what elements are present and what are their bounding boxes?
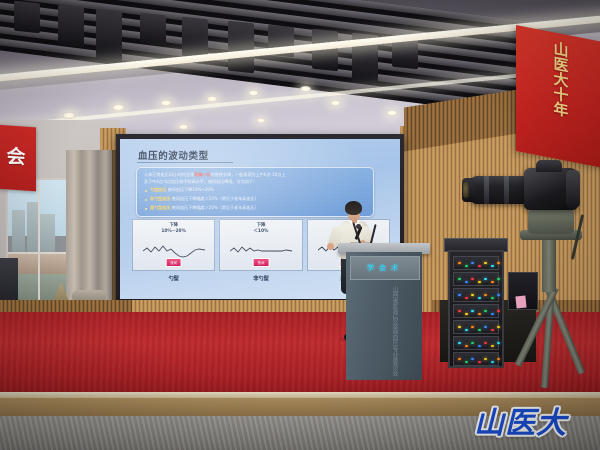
bp-chart-2-trace bbox=[230, 238, 292, 260]
rack-led-indicator bbox=[478, 265, 481, 267]
callout-bullet-3: 超勺型血压 夜间血压下降幅度＞20%（常见于老年高血压） bbox=[150, 206, 259, 210]
bp-chart-2-caption: 下降 ＜10% bbox=[220, 223, 301, 234]
bp-chart-1-axis-right bbox=[204, 222, 212, 263]
conference-hall-photo: 会 山医大十年 血压的波动类型 人体正常血压24小时内呈现双峰一谷的昼夜节律，一… bbox=[0, 0, 600, 450]
distant-building-1 bbox=[12, 210, 25, 258]
podium-front-panel: 学会术 bbox=[350, 256, 420, 280]
ceiling-downlight bbox=[386, 110, 398, 116]
rack-led-indicator bbox=[497, 262, 500, 264]
lens-focus-ring bbox=[484, 176, 489, 204]
rack-led-indicator bbox=[491, 329, 494, 331]
slide-title: 血压的波动类型 bbox=[138, 148, 209, 162]
bp-chart-1-badge: 夜间 bbox=[165, 258, 182, 267]
banner-left: 会 bbox=[0, 125, 36, 192]
rack-unit[interactable] bbox=[453, 288, 499, 302]
ceiling-downlight bbox=[62, 112, 76, 119]
callout-bullet-1-term: 勺型血压 bbox=[150, 187, 166, 192]
rack-unit[interactable] bbox=[453, 272, 499, 286]
rack-led-indicator bbox=[484, 326, 487, 328]
ceiling-downlight bbox=[178, 124, 189, 130]
callout-bullet-2-term: 非勺型血压 bbox=[150, 196, 170, 201]
callout-bullet-2: 非勺型血压 夜间血压下降幅度＜10%（常见于老年高血压） bbox=[150, 197, 259, 201]
callout-bullet-dot-2 bbox=[145, 199, 147, 201]
rack-led-indicator bbox=[478, 345, 481, 347]
callout-bullet-3-term: 超勺型血压 bbox=[150, 205, 170, 210]
lens-front-element bbox=[463, 182, 469, 198]
rack-led-indicator bbox=[465, 345, 468, 347]
rack-led-indicator bbox=[484, 278, 487, 280]
ceiling-downlight bbox=[206, 96, 218, 102]
ceiling-downlight bbox=[248, 90, 259, 96]
rack-led-indicator bbox=[478, 329, 481, 331]
rack-led-indicator bbox=[471, 310, 474, 312]
rack-led-indicator bbox=[471, 294, 474, 296]
camera-telephoto-lens bbox=[470, 176, 530, 204]
banner-right-text: 山医大十年 bbox=[552, 40, 569, 118]
slide-title-underline bbox=[137, 162, 233, 163]
rack-led-indicator bbox=[471, 342, 474, 344]
rack-led-indicator bbox=[465, 361, 468, 363]
callout-bullet-dot-1 bbox=[145, 190, 147, 192]
bp-chart-1-label: 勺型 bbox=[132, 275, 215, 282]
rack-led-indicator bbox=[491, 361, 494, 363]
rack-led-indicator bbox=[491, 345, 494, 347]
rack-led-indicator bbox=[458, 326, 461, 328]
slide-callout-box: 人体正常血压24小时内呈现双峰一谷的昼夜节律，一般表现为上午6点-10点上 及下… bbox=[136, 167, 374, 217]
callout-bullet-1-text: 夜间血压下降10%~20% bbox=[168, 187, 214, 192]
callout-p1c: 的昼夜节律，一般表现为上午6点-10点上 bbox=[211, 172, 286, 177]
rack-led-indicator bbox=[478, 361, 481, 363]
rack-led-indicator bbox=[491, 281, 494, 283]
tripod-fluid-head bbox=[528, 208, 574, 234]
rack-led-indicator bbox=[471, 262, 474, 264]
rack-led-indicator bbox=[458, 294, 461, 296]
watermark-logo: 山医大 bbox=[474, 398, 567, 442]
rack-unit[interactable] bbox=[453, 304, 499, 318]
rack-led-indicator bbox=[491, 297, 494, 299]
callout-paragraph-line2: 及下午4点-6点血压较子较高水平，夜间血压降低，分为如下： bbox=[144, 180, 257, 184]
banner-left-text: 会 bbox=[0, 147, 36, 169]
bp-chart-2: 下降 ＜10% 夜间 bbox=[219, 219, 302, 271]
callout-bullet-2-text: 夜间血压下降幅度＜10%（常见于老年高血压） bbox=[172, 196, 259, 201]
rack-led-indicator bbox=[458, 342, 461, 344]
camera-battery-grip bbox=[566, 170, 580, 208]
ceiling-downlight bbox=[112, 104, 125, 111]
window-mullion-vertical bbox=[38, 180, 40, 301]
ceiling-downlight bbox=[330, 100, 341, 106]
rack-unit[interactable] bbox=[453, 352, 499, 366]
bp-chart-1-trace bbox=[143, 238, 205, 260]
bp-chart-1-caption-l2: 10%~20% bbox=[161, 229, 186, 234]
callout-paragraph-line1: 人体正常血压24小时内呈现双峰一谷的昼夜节律，一般表现为上午6点-10点上 bbox=[144, 173, 285, 177]
callout-bullet-1: 勺型血压 夜间血压下降10%~20% bbox=[150, 188, 214, 192]
rack-led-indicator bbox=[471, 326, 474, 328]
speaker-hair bbox=[345, 201, 362, 215]
podium-side-text: 山西省医师协会高血压专业委员会 bbox=[382, 286, 398, 378]
banner-right: 山医大十年 bbox=[516, 25, 600, 169]
bp-chart-2-axis-right bbox=[292, 222, 300, 263]
bp-chart-2-caption-l2: ＜10% bbox=[254, 229, 269, 234]
rack-led-indicator bbox=[465, 313, 468, 315]
rack-led-indicator bbox=[478, 297, 481, 299]
rack-unit[interactable] bbox=[453, 320, 499, 334]
distant-building-2 bbox=[27, 202, 38, 258]
bp-chart-2-caption-l1: 下降 bbox=[257, 223, 266, 228]
bp-chart-1-caption: 下降 10%~20% bbox=[133, 223, 214, 234]
rack-led-indicator bbox=[491, 265, 494, 267]
lens-zoom-ring bbox=[504, 176, 509, 204]
rack-unit[interactable] bbox=[453, 256, 499, 270]
callout-bullet-3-text: 夜间血压下降幅度＞20%（常见于老年高血压） bbox=[172, 205, 259, 210]
callout-p1b: 双峰一谷 bbox=[194, 172, 210, 177]
bp-chart-1: 下降 10%~20% 夜间 bbox=[132, 219, 215, 271]
rack-led-indicator bbox=[497, 278, 500, 280]
rack-led-indicator bbox=[458, 262, 461, 264]
callout-bullet-dot-3 bbox=[145, 208, 147, 210]
rack-led-indicator bbox=[478, 281, 481, 283]
bp-chart-2-badge: 夜间 bbox=[253, 258, 270, 267]
rack-led-indicator bbox=[484, 294, 487, 296]
bp-chart-3-axis-left bbox=[310, 222, 318, 263]
rack-led-indicator bbox=[484, 310, 487, 312]
callout-p1a: 人体正常血压24小时内呈现 bbox=[144, 172, 194, 177]
rack-led-indicator bbox=[478, 313, 481, 315]
rack-led-indicator bbox=[458, 358, 461, 360]
rack-led-indicator bbox=[465, 329, 468, 331]
rack-led-indicator bbox=[458, 310, 461, 312]
ceiling-downlight bbox=[256, 118, 266, 123]
av-equipment-rack bbox=[448, 250, 504, 368]
rack-unit[interactable] bbox=[453, 336, 499, 350]
rack-led-indicator bbox=[465, 297, 468, 299]
rack-led-indicator bbox=[465, 265, 468, 267]
rack-led-indicator bbox=[471, 278, 474, 280]
rack-led-indicator bbox=[471, 358, 474, 360]
ceiling-downlight bbox=[300, 86, 311, 92]
podium-front-text: 学会术 bbox=[351, 263, 419, 273]
bp-chart-1-axis-left bbox=[135, 222, 143, 263]
speaker-hand-left bbox=[327, 243, 334, 250]
rack-led-indicator bbox=[484, 262, 487, 264]
window-mullion-horizontal bbox=[8, 252, 70, 254]
bp-chart-2-label: 非勺型 bbox=[219, 275, 302, 282]
tripod-center-column bbox=[542, 238, 556, 292]
microphone-head-icon bbox=[356, 224, 361, 229]
bp-chart-1-caption-l1: 下降 bbox=[169, 223, 178, 228]
rack-led-indicator bbox=[491, 313, 494, 315]
rack-led-indicator bbox=[458, 278, 461, 280]
ceiling-downlight bbox=[160, 100, 172, 106]
rack-led-indicator bbox=[484, 358, 487, 360]
camera-pentaprism-hump bbox=[536, 160, 562, 172]
rack-led-indicator bbox=[484, 342, 487, 344]
rack-led-indicator bbox=[465, 281, 468, 283]
bp-chart-2-axis-left bbox=[222, 222, 230, 263]
